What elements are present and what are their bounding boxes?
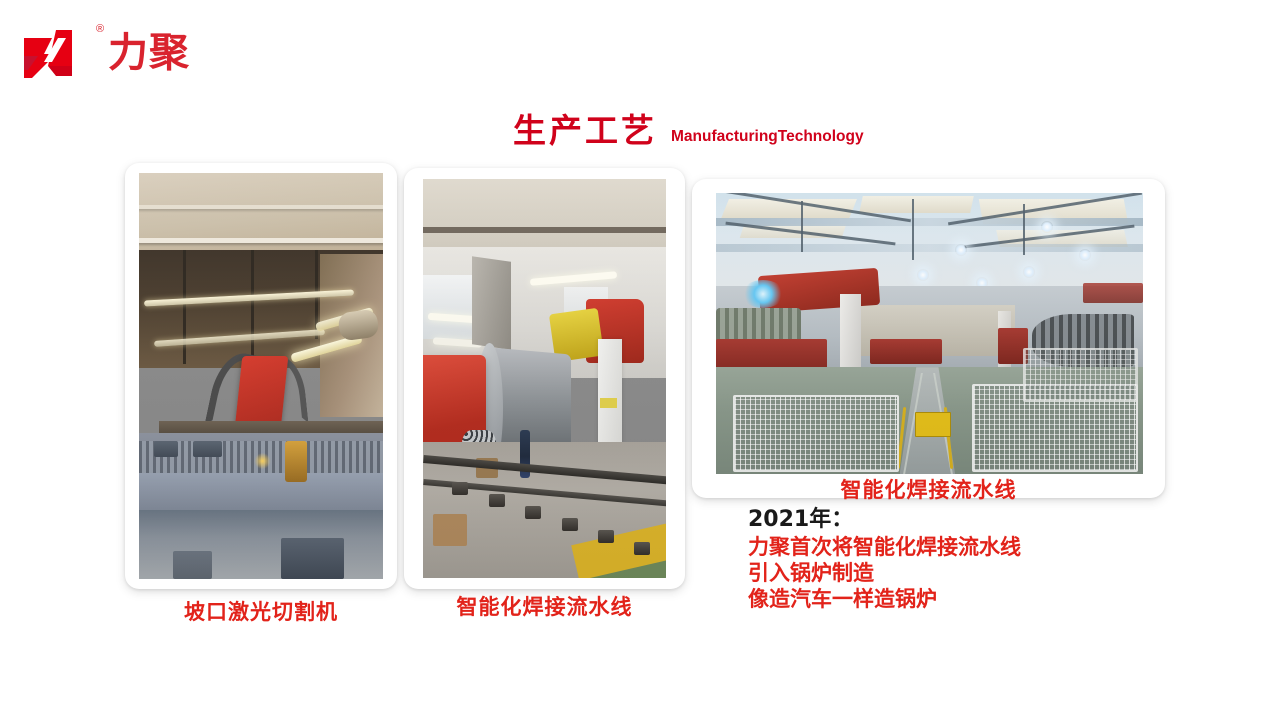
caption-welding-line: 智能化焊接流水线: [404, 591, 685, 621]
liju-lightning-logo-icon: [22, 26, 94, 82]
photo-card-welding-line[interactable]: [404, 168, 685, 589]
page-title-en: ManufacturingTechnology: [671, 128, 864, 146]
page-title: 生产工艺 ManufacturingTechnology: [513, 112, 864, 150]
page-title-cn: 生产工艺: [513, 112, 657, 150]
note-year: 2021年：: [748, 506, 1168, 534]
registered-trademark-icon: ®: [96, 24, 104, 35]
note-block: 2021年： 力聚首次将智能化焊接流水线 引入锅炉制造 像造汽车一样造锅炉: [748, 506, 1168, 612]
photo-card-smart-welding-hall[interactable]: 智能化焊接流水线: [692, 179, 1165, 498]
note-line-3: 像造汽车一样造锅炉: [748, 586, 1168, 612]
note-line-2: 引入锅炉制造: [748, 560, 1168, 586]
caption-smart-welding-hall: 智能化焊接流水线: [692, 474, 1165, 504]
photo-laser-cutting-machine: [139, 173, 383, 579]
note-line-1: 力聚首次将智能化焊接流水线: [748, 534, 1168, 560]
photo-smart-welding-factory-hall: [716, 193, 1143, 474]
photo-card-laser-cutter[interactable]: [125, 163, 397, 589]
brand-name: 力聚: [108, 30, 190, 76]
slide-canvas: ® 力聚 生产工艺 ManufacturingTechnology: [0, 0, 1280, 720]
photo-welding-line-vessel: [423, 179, 666, 578]
brand-logo: ® 力聚: [22, 22, 282, 84]
caption-laser-cutter: 坡口激光切割机: [125, 596, 397, 626]
